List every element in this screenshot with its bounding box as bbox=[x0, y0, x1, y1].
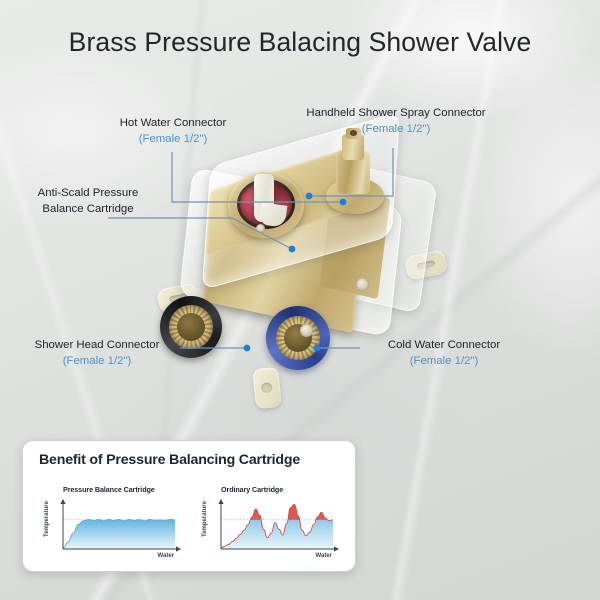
callout-shower-head: Shower Head Connector (Female 1/2") bbox=[14, 338, 180, 369]
chart-ordinary-cartridge: Ordinary Cartridge Temperature Water bbox=[195, 485, 343, 561]
chart-ordinary-cartridge-svg: Temperature Water bbox=[195, 485, 343, 561]
callout-handheld: Handheld Shower Spray Connector (Female … bbox=[300, 106, 492, 137]
callout-cartridge-sub: Balance Cartridge bbox=[18, 202, 158, 218]
housing-screw-3 bbox=[256, 224, 265, 233]
housing-screw-2 bbox=[300, 324, 313, 337]
mounting-tab-bottom bbox=[252, 367, 282, 409]
callout-cartridge-label: Anti-Scald Pressure bbox=[38, 187, 139, 199]
callout-handheld-sub: (Female 1/2") bbox=[300, 122, 492, 138]
page-title: Brass Pressure Balacing Shower Valve bbox=[0, 27, 600, 58]
chart-a-ylabel: Temperature bbox=[44, 500, 50, 537]
chart-pressure-balance-svg: Temperature Water bbox=[37, 485, 185, 561]
shower-head-port-bore bbox=[177, 313, 205, 341]
callout-cold-water-label: Cold Water Connector bbox=[388, 339, 500, 351]
callout-cold-water-sub: (Female 1/2") bbox=[362, 354, 526, 370]
chart-b-xlabel: Water bbox=[316, 553, 333, 559]
callout-shower-head-sub: (Female 1/2") bbox=[14, 354, 180, 370]
benefit-panel-title: Benefit of Pressure Balancing Cartridge bbox=[39, 452, 300, 468]
callout-hot-water: Hot Water Connector (Female 1/2") bbox=[92, 116, 254, 147]
chart-pressure-balance: Pressure Balance Cartridge Temperature W… bbox=[37, 485, 185, 561]
callout-cartridge: Anti-Scald Pressure Balance Cartridge bbox=[18, 186, 158, 217]
callout-cold-water: Cold Water Connector (Female 1/2") bbox=[362, 338, 526, 369]
chart-a-xlabel: Water bbox=[158, 553, 175, 559]
housing-screw-1 bbox=[356, 278, 369, 291]
shower-valve-product-image bbox=[150, 128, 450, 413]
callout-hot-water-label: Hot Water Connector bbox=[120, 117, 227, 129]
callout-handheld-label: Handheld Shower Spray Connector bbox=[306, 107, 485, 119]
benefit-panel: Benefit of Pressure Balancing Cartridge … bbox=[22, 440, 356, 572]
chart-b-ylabel: Temperature bbox=[202, 500, 208, 537]
callout-hot-water-sub: (Female 1/2") bbox=[92, 132, 254, 148]
callout-shower-head-label: Shower Head Connector bbox=[35, 339, 160, 351]
